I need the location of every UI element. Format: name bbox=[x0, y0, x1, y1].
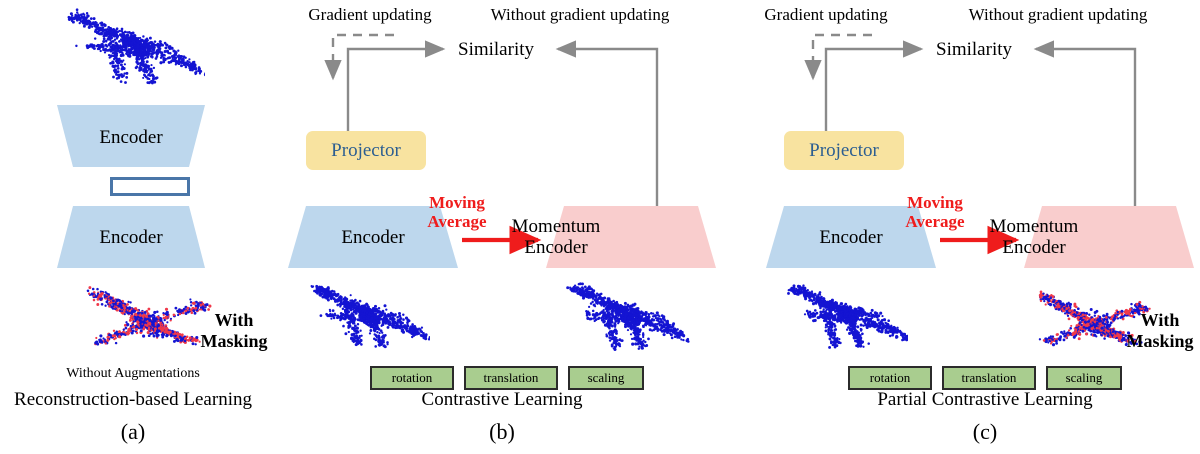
augmentation-box-scaling-c[interactable]: scaling bbox=[1046, 366, 1122, 390]
figure-canvas: Encoder Encoder WithMasking Without Augm… bbox=[0, 0, 1200, 454]
projector-label-b: Projector bbox=[331, 140, 401, 162]
panel-caption-b: Contrastive Learning bbox=[422, 390, 583, 409]
panel-letter-a: (a) bbox=[121, 421, 145, 443]
similarity-label-c: Similarity bbox=[936, 40, 1012, 59]
with-masking-label-c: WithMasking bbox=[1124, 310, 1196, 352]
encoder-label-c: Encoder bbox=[819, 228, 882, 247]
momentum-encoder-label-b: MomentumEncoder bbox=[481, 216, 631, 259]
point-cloud-input-a bbox=[55, 2, 205, 100]
momentum-encoder-label-c: MomentumEncoder bbox=[959, 216, 1109, 259]
augmentation-label-translation-c: translation bbox=[962, 370, 1017, 386]
augmentation-label-rotation-c: rotation bbox=[870, 370, 910, 386]
panel-letter-b: (b) bbox=[489, 421, 515, 443]
without-augmentations-label-a: Without Augmentations bbox=[66, 367, 200, 381]
encoder-bottom-label-a: Encoder bbox=[99, 228, 162, 247]
panel-letter-c: (c) bbox=[973, 421, 997, 443]
augmentation-box-translation-c[interactable]: translation bbox=[942, 366, 1036, 390]
with-masking-label-a: WithMasking bbox=[198, 310, 270, 352]
projector-box-b[interactable]: Projector bbox=[306, 131, 426, 170]
point-cloud-left-b bbox=[300, 277, 430, 362]
panel-caption-c: Partial Contrastive Learning bbox=[877, 390, 1092, 409]
projector-label-c: Projector bbox=[809, 140, 879, 162]
encoder-top-label-a: Encoder bbox=[99, 128, 162, 147]
similarity-label-b: Similarity bbox=[458, 40, 534, 59]
point-cloud-left-c bbox=[778, 277, 908, 362]
encoder-label-b: Encoder bbox=[341, 228, 404, 247]
latent-bar-a bbox=[110, 177, 190, 196]
panel-c: Gradient updating Without gradient updat… bbox=[700, 0, 1200, 454]
point-cloud-right-b bbox=[558, 276, 690, 364]
panel-a: Encoder Encoder WithMasking Without Augm… bbox=[0, 0, 270, 454]
augmentation-label-scaling-b: scaling bbox=[588, 370, 625, 386]
panel-caption-a: Reconstruction-based Learning bbox=[14, 390, 252, 409]
augmentation-label-translation-b: translation bbox=[484, 370, 539, 386]
panel-b: Gradient updating Without gradient updat… bbox=[270, 0, 670, 454]
projector-box-c[interactable]: Projector bbox=[784, 131, 904, 170]
point-cloud-output-a bbox=[76, 278, 212, 370]
augmentation-box-scaling-b[interactable]: scaling bbox=[568, 366, 644, 390]
augmentation-box-translation-b[interactable]: translation bbox=[464, 366, 558, 390]
augmentation-box-rotation-c[interactable]: rotation bbox=[848, 366, 932, 390]
augmentation-box-rotation-b[interactable]: rotation bbox=[370, 366, 454, 390]
augmentation-label-rotation-b: rotation bbox=[392, 370, 432, 386]
augmentation-label-scaling-c: scaling bbox=[1066, 370, 1103, 386]
